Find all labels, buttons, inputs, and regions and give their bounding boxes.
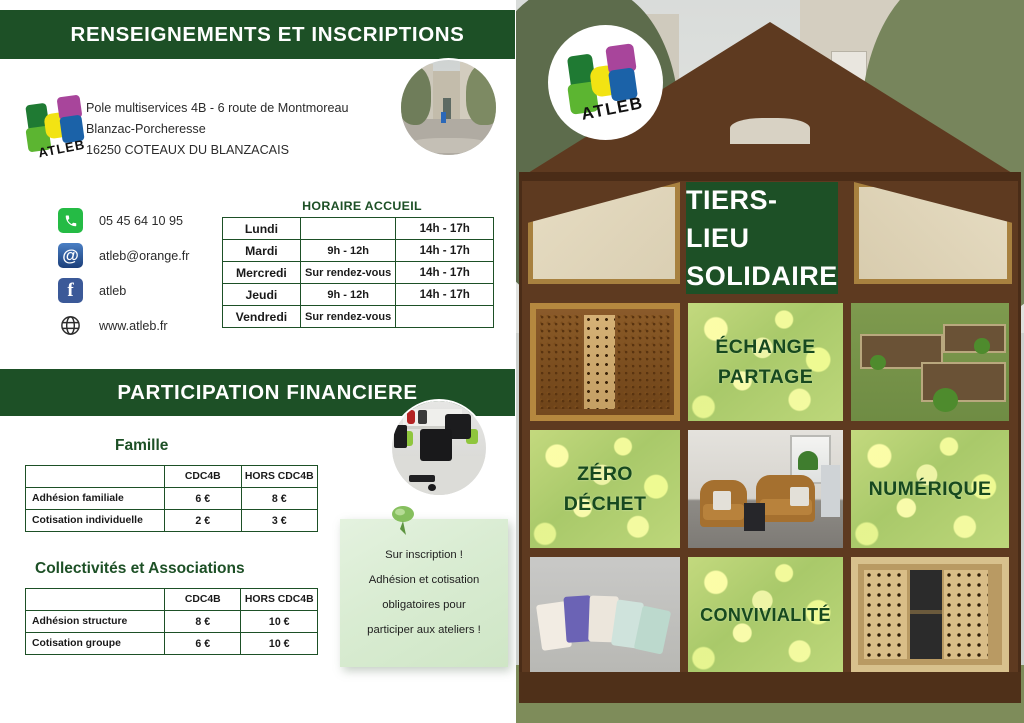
table-row: Lundi 14h - 17h <box>223 218 494 240</box>
vegetable-garden-photo <box>851 303 1009 421</box>
table-row: Mercredi Sur rendez-vous 14h - 17h <box>223 262 494 284</box>
panel-text-convivialite: CONVIVIALITÉ <box>700 600 831 630</box>
horaire-accueil-table: Lundi 14h - 17h Mardi 9h - 12h 14h - 17h… <box>222 217 494 328</box>
note-line-3: obligatoires pour <box>340 593 508 618</box>
collectivites-empty-corner <box>26 589 165 611</box>
collectivites-row-label: Adhésion structure <box>26 611 165 633</box>
table-row: Cotisation groupe 6 € 10 € <box>26 633 318 655</box>
note-line-2: Adhésion et cotisation <box>340 568 508 593</box>
contact-row-email[interactable]: @ atleb@orange.fr <box>58 239 228 272</box>
panel-text-partage: PARTAGE <box>718 362 813 392</box>
horaire-afternoon: 14h - 17h <box>396 218 494 240</box>
famille-value-cdc4b: 6 € <box>165 488 241 510</box>
table-header-row: CDC4B HORS CDC4B <box>26 466 318 488</box>
reusable-washcloths-photo <box>530 557 680 672</box>
table-row: Jeudi 9h - 12h 14h - 17h <box>223 284 494 306</box>
table-row: Mardi 9h - 12h 14h - 17h <box>223 240 494 262</box>
header-band-renseignements: RENSEIGNEMENTS ET INSCRIPTIONS <box>0 8 515 61</box>
horaire-afternoon <box>396 306 494 328</box>
panel-text-zero: ZÉRO <box>577 459 633 489</box>
famille-heading: Famille <box>115 437 168 455</box>
collectivites-value-hors: 10 € <box>241 633 318 655</box>
address-block: Pole multiservices 4B - 6 route de Montm… <box>86 98 386 161</box>
header-title-renseignements: RENSEIGNEMENTS ET INSCRIPTIONS <box>51 23 465 47</box>
collectivites-value-hors: 10 € <box>241 611 318 633</box>
panel-tiers-lieu-solidaire: TIERS-LIEU SOLIDAIRE <box>686 182 838 294</box>
address-line-2: Blanzac-Porcheresse <box>86 119 386 140</box>
collectivites-col-cdc4b: CDC4B <box>164 589 241 611</box>
facebook-handle: atleb <box>99 284 126 298</box>
panel-text-solidaire: SOLIDAIRE <box>686 257 838 295</box>
contact-row-website[interactable]: www.atleb.fr <box>58 309 228 342</box>
inscription-sticky-note: Sur inscription ! Adhésion et cotisation… <box>340 519 508 667</box>
panel-echange-partage: ÉCHANGE PARTAGE <box>688 303 843 421</box>
famille-row-label: Adhésion familiale <box>26 488 165 510</box>
collectivites-value-cdc4b: 8 € <box>164 611 241 633</box>
collectivites-row-label: Cotisation groupe <box>26 633 165 655</box>
famille-col-hors-cdc4b: HORS CDC4B <box>241 466 318 488</box>
header-title-participation: PARTICIPATION FINANCIERE <box>97 381 417 405</box>
panel-convivialite: CONVIVIALITÉ <box>688 557 843 672</box>
famille-value-hors: 3 € <box>241 510 318 532</box>
insect-hotel-photo <box>530 303 680 421</box>
phone-icon <box>58 208 83 233</box>
note-line-1: Sur inscription ! <box>340 543 508 568</box>
address-line-3: 16250 COTEAUX DU BLANZACAIS <box>86 140 386 161</box>
collectivites-col-hors-cdc4b: HORS CDC4B <box>241 589 318 611</box>
contact-row-phone[interactable]: 05 45 64 10 95 <box>58 204 228 237</box>
table-row: Adhésion structure 8 € 10 € <box>26 611 318 633</box>
table-row: Cotisation individuelle 2 € 3 € <box>26 510 318 532</box>
phone-number: 05 45 64 10 95 <box>99 214 183 228</box>
famille-value-cdc4b: 2 € <box>165 510 241 532</box>
flyer-page: RENSEIGNEMENTS ET INSCRIPTIONS ATLEB <box>0 0 1024 723</box>
horaire-afternoon: 14h - 17h <box>396 262 494 284</box>
atleb-logo: ATLEB <box>23 93 91 161</box>
email-address: atleb@orange.fr <box>99 249 190 263</box>
panel-numerique: NUMÉRIQUE <box>851 430 1009 548</box>
gable-plaque <box>730 118 810 144</box>
horaire-day: Jeudi <box>223 284 301 306</box>
left-information-column: RENSEIGNEMENTS ET INSCRIPTIONS ATLEB <box>0 0 516 723</box>
horaire-accueil-title: HORAIRE ACCUEIL <box>232 199 492 213</box>
horaire-day: Mercredi <box>223 262 301 284</box>
famille-row-label: Cotisation individuelle <box>26 510 165 532</box>
famille-col-cdc4b: CDC4B <box>165 466 241 488</box>
house-plinth <box>519 672 1021 703</box>
famille-value-hors: 8 € <box>241 488 318 510</box>
website-url: www.atleb.fr <box>99 319 168 333</box>
panel-text-dechet: DÉCHET <box>564 489 647 519</box>
collectivites-value-cdc4b: 6 € <box>164 633 241 655</box>
horaire-morning: 9h - 12h <box>300 284 396 306</box>
table-row: Vendredi Sur rendez-vous <box>223 306 494 328</box>
insect-hotel-photo-2 <box>851 557 1009 672</box>
push-pin-icon <box>390 505 416 535</box>
computer-room-photo <box>390 399 488 497</box>
address-line-1: Pole multiservices 4B - 6 route de Montm… <box>86 98 386 119</box>
house-collage: TIERS-LIEU SOLIDAIRE ÉCHANGE PARTAGE ZÉR… <box>516 0 1024 723</box>
horaire-morning: Sur rendez-vous <box>300 306 396 328</box>
village-square-photo <box>399 58 498 157</box>
horaire-afternoon: 14h - 17h <box>396 284 494 306</box>
horaire-morning: 9h - 12h <box>300 240 396 262</box>
panel-text-echange: ÉCHANGE <box>715 332 815 362</box>
horaire-day: Vendredi <box>223 306 301 328</box>
atleb-logo-badge: ATLEB <box>548 25 663 140</box>
email-icon: @ <box>58 243 83 268</box>
horaire-morning: Sur rendez-vous <box>300 262 396 284</box>
table-row: Adhésion familiale 6 € 8 € <box>26 488 318 510</box>
horaire-day: Mardi <box>223 240 301 262</box>
panel-zero-dechet: ZÉRO DÉCHET <box>530 430 680 548</box>
contact-row-facebook[interactable]: f atleb <box>58 274 228 307</box>
horaire-afternoon: 14h - 17h <box>396 240 494 262</box>
famille-empty-corner <box>26 466 165 488</box>
horaire-morning <box>300 218 396 240</box>
contact-list: 05 45 64 10 95 @ atleb@orange.fr f atleb… <box>58 204 228 344</box>
horaire-day: Lundi <box>223 218 301 240</box>
globe-icon <box>58 313 83 338</box>
facebook-icon: f <box>58 278 83 303</box>
table-header-row: CDC4B HORS CDC4B <box>26 589 318 611</box>
collectivites-price-table: CDC4B HORS CDC4B Adhésion structure 8 € … <box>25 588 318 655</box>
panel-text-numerique: NUMÉRIQUE <box>869 474 992 504</box>
famille-price-table: CDC4B HORS CDC4B Adhésion familiale 6 € … <box>25 465 318 532</box>
lounge-armchairs-photo <box>688 430 843 548</box>
panel-text-tiers-lieu: TIERS-LIEU <box>686 181 838 257</box>
collectivites-heading: Collectivités et Associations <box>35 560 245 578</box>
note-line-4: participer aux ateliers ! <box>340 618 508 643</box>
